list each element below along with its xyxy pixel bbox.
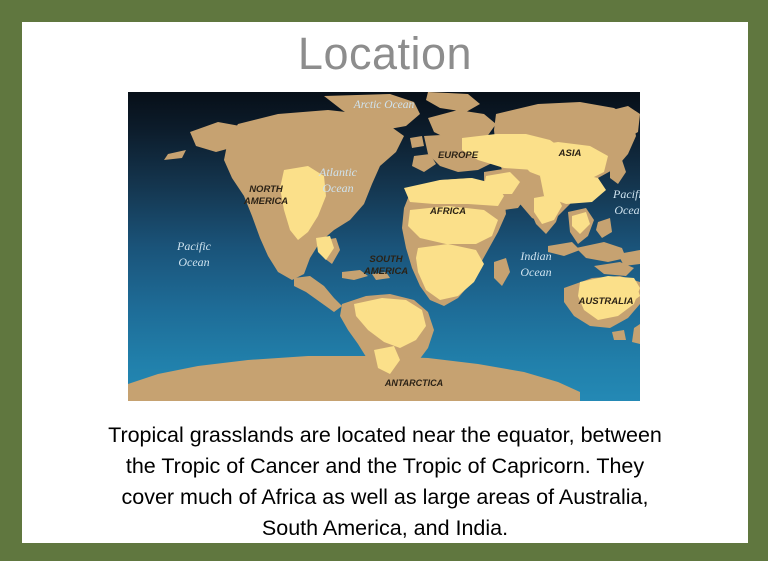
north-america-label-line1: NORTH bbox=[249, 184, 284, 195]
antarctica-label: ANTARCTICA bbox=[384, 378, 443, 388]
arctic-ocean-label: Arctic Ocean bbox=[353, 99, 415, 111]
world-map-svg: Arctic Ocean Atlantic Ocean Pacific Ocea… bbox=[128, 92, 640, 401]
indian-ocean-label-line2: Ocean bbox=[520, 265, 551, 279]
asia-label: ASIA bbox=[558, 148, 582, 159]
pacific-ocean-west-label-line2: Ocean bbox=[178, 255, 209, 269]
slide-canvas: Location bbox=[22, 22, 748, 543]
europe-label: EUROPE bbox=[438, 150, 479, 161]
world-map-image: Arctic Ocean Atlantic Ocean Pacific Ocea… bbox=[128, 92, 640, 401]
south-america-label-line2: AMERICA bbox=[363, 266, 408, 277]
caption-line-1: Tropical grasslands are located near the… bbox=[52, 420, 718, 451]
atlantic-ocean-label-line2: Ocean bbox=[322, 181, 353, 195]
pacific-ocean-west-label-line1: Pacific bbox=[176, 239, 212, 253]
caption-text: Tropical grasslands are located near the… bbox=[52, 420, 718, 544]
south-america-label-line1: SOUTH bbox=[369, 254, 403, 265]
caption-line-3: cover much of Africa as well as large ar… bbox=[52, 482, 718, 513]
pacific-ocean-east-label-line1: Pacific bbox=[612, 187, 640, 201]
australia-label: AUSTRALIA bbox=[578, 296, 634, 307]
africa-label: AFRICA bbox=[429, 206, 466, 217]
atlantic-ocean-label-line1: Atlantic bbox=[318, 165, 358, 179]
pacific-ocean-east-label-line2: Ocean bbox=[614, 203, 640, 217]
slide-frame: Location bbox=[0, 0, 768, 561]
caption-line-2: the Tropic of Cancer and the Tropic of C… bbox=[52, 451, 718, 482]
caption-line-4: South America, and India. bbox=[52, 513, 718, 544]
page-title: Location bbox=[22, 30, 748, 77]
indian-ocean-label-line1: Indian bbox=[519, 249, 551, 263]
north-america-label-line2: AMERICA bbox=[243, 196, 288, 207]
